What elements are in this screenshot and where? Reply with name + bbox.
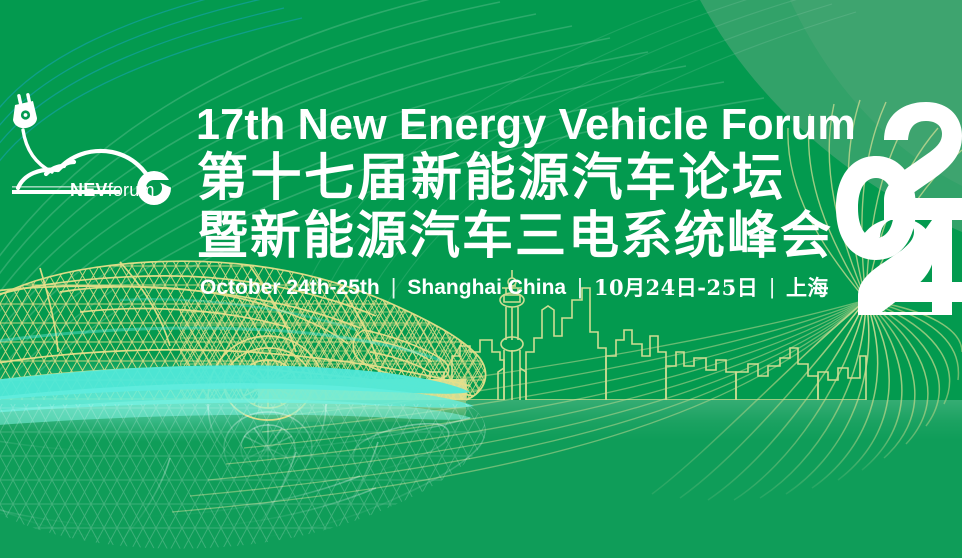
charging-cable: [23, 130, 52, 172]
year-digit-0: [836, 156, 916, 260]
title-chinese-line-1: 第十七届新能源汽车论坛: [196, 150, 836, 208]
date-chinese: 10月24日-25日: [594, 276, 758, 300]
city-chinese: 上海: [786, 276, 829, 300]
dateline-separator-2: |: [566, 275, 594, 299]
nevforum-logo[interactable]: NEVforum: [6, 78, 182, 210]
logo-wordmark: NEVforum: [70, 180, 155, 201]
headline-block: 17th New Energy Vehicle Forum 第十七届新能源汽车论…: [196, 100, 836, 300]
event-poster: NEVforum 17th New Energy Vehicle Forum 第…: [0, 0, 962, 558]
event-dateline: October 24th-25th | Shanghai China | 10月…: [200, 276, 836, 300]
title-chinese-line-2: 暨新能源汽车三电系统峰会: [196, 208, 836, 266]
charging-plug-icon: [13, 93, 37, 128]
date-english: October 24th-25th: [200, 276, 380, 300]
logo-wordmark-thin: forum: [108, 180, 155, 200]
title-english: 17th New Energy Vehicle Forum: [196, 100, 823, 150]
dateline-separator-1: |: [380, 275, 408, 299]
logo-wordmark-bold: NEV: [70, 180, 108, 200]
dateline-separator-3: |: [758, 275, 786, 299]
city-english: Shanghai China: [407, 276, 566, 300]
